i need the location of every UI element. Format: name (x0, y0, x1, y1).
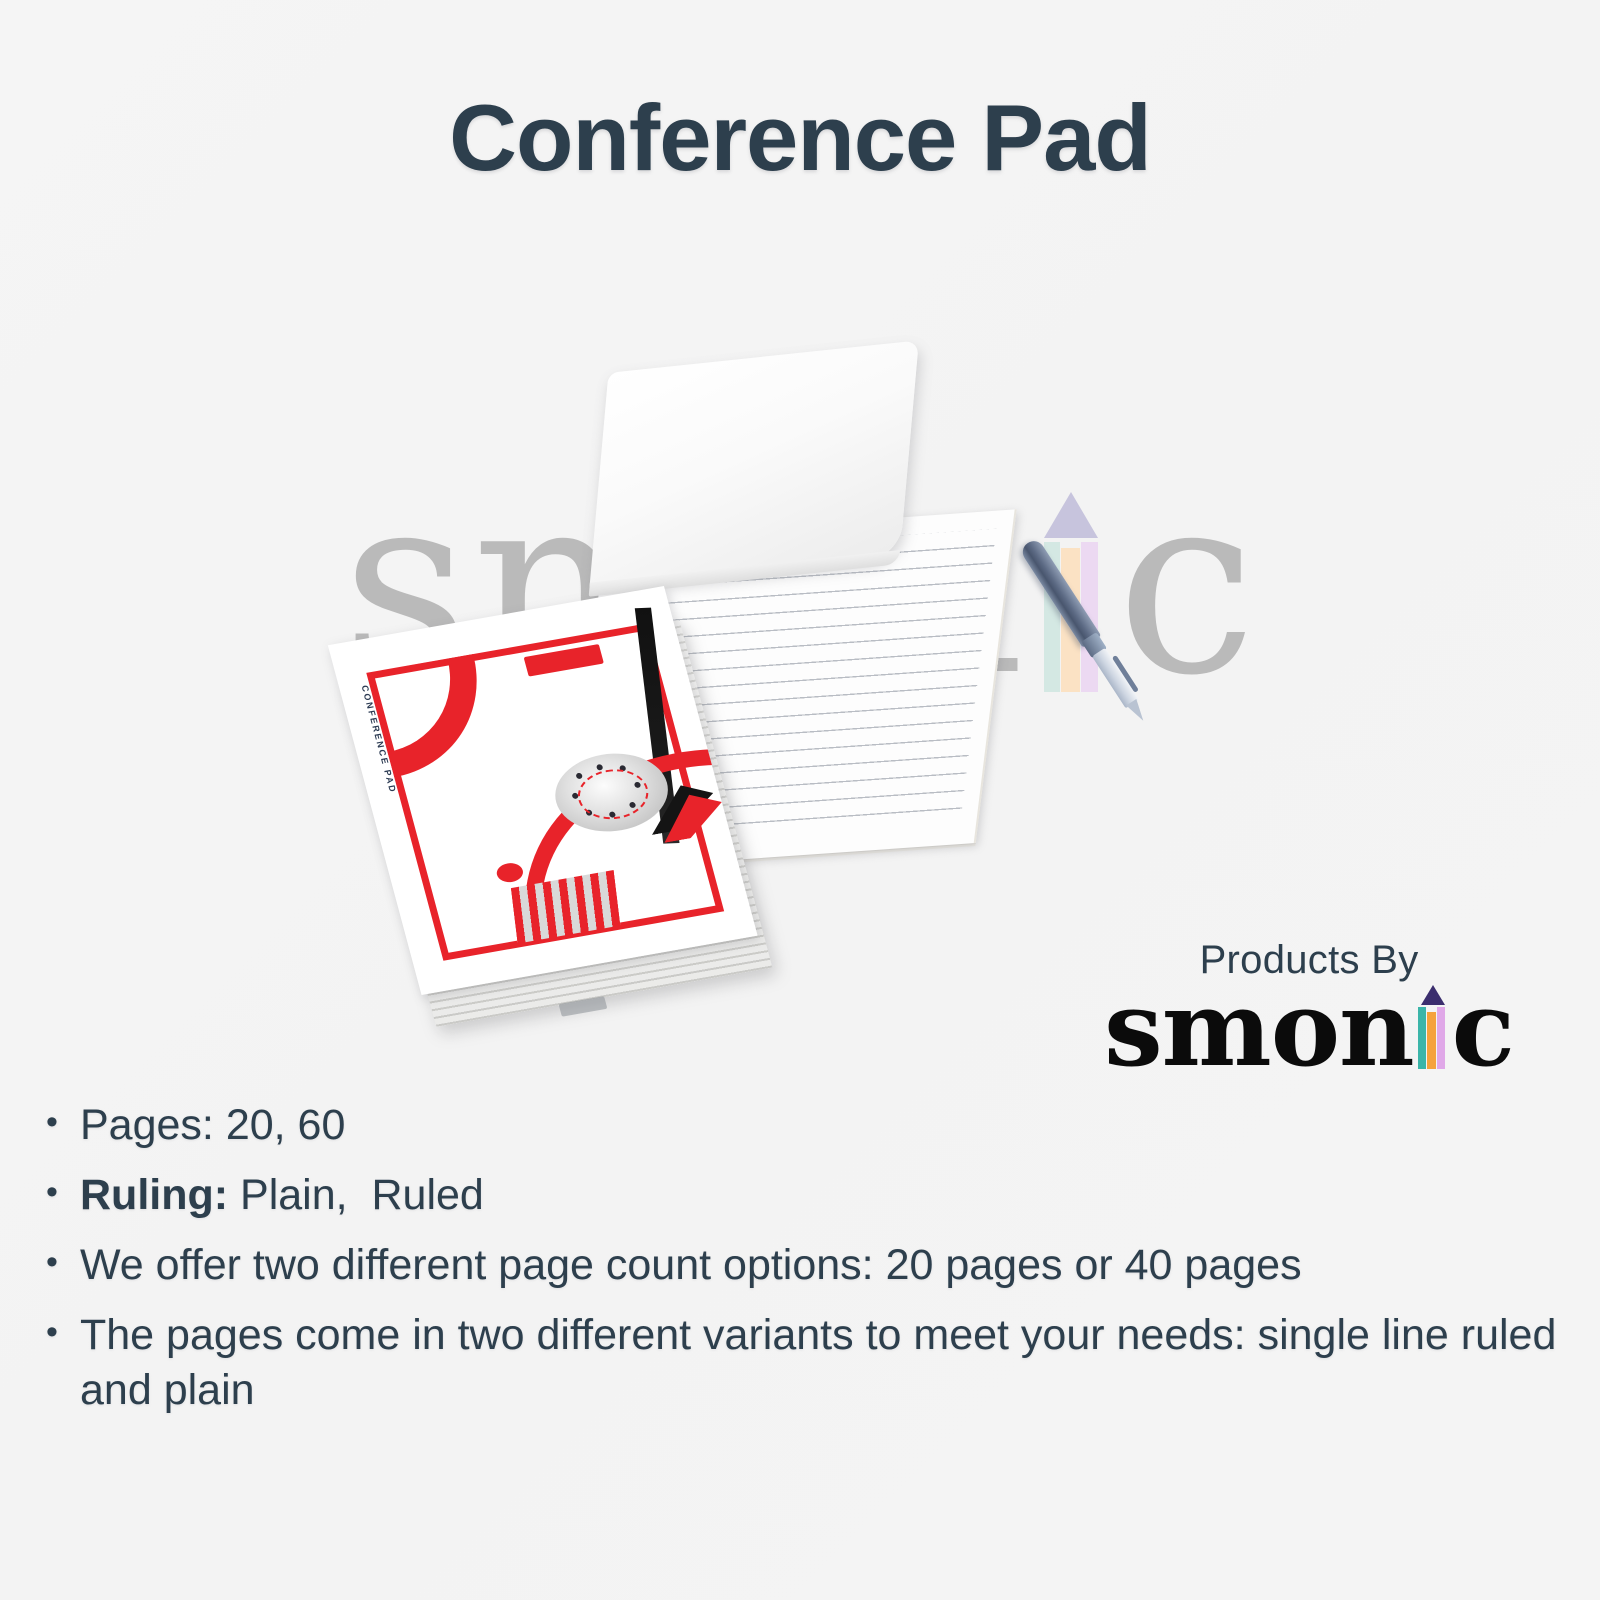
list-item-label: Pages: (80, 1101, 214, 1149)
list-item: • We offer two different page count opti… (46, 1238, 1566, 1293)
list-item: • The pages come in two different varian… (46, 1308, 1566, 1418)
list-item-value: Plain, Ruled (228, 1171, 484, 1219)
list-item-text: The pages come in two different variants… (80, 1308, 1566, 1418)
list-item-value: 20, 60 (214, 1101, 346, 1149)
list-item-text: Pages: 20, 60 (80, 1098, 1566, 1153)
bullet-icon: • (46, 1308, 80, 1357)
product-marketing-card: Conference Pad smon c (0, 0, 1600, 1600)
folded-page-flap (589, 340, 919, 589)
list-item: • Pages: 20, 60 (46, 1098, 1566, 1153)
logo-pencil-icon (1416, 985, 1450, 1069)
smonic-logo: smon c (1104, 985, 1514, 1071)
feature-list: • Pages: 20, 60 • Ruling: Plain, Ruled •… (46, 1098, 1566, 1433)
page-title: Conference Pad (0, 84, 1600, 192)
brand-block: Products By smon c (1104, 938, 1514, 1071)
list-item-label: Ruling: (80, 1171, 228, 1219)
list-item-text: We offer two different page count option… (80, 1238, 1566, 1293)
bullet-icon: • (46, 1098, 80, 1147)
pen-icon (1019, 537, 1152, 725)
list-item: • Ruling: Plain, Ruled (46, 1168, 1566, 1223)
logo-text-after: c (1452, 986, 1514, 1071)
logo-text-before: smon (1104, 986, 1414, 1071)
bullet-icon: • (46, 1168, 80, 1217)
pad-printed-cover: CONFERENCE PAD (328, 586, 758, 995)
bullet-icon: • (46, 1238, 80, 1287)
list-item-text: Ruling: Plain, Ruled (80, 1168, 1566, 1223)
